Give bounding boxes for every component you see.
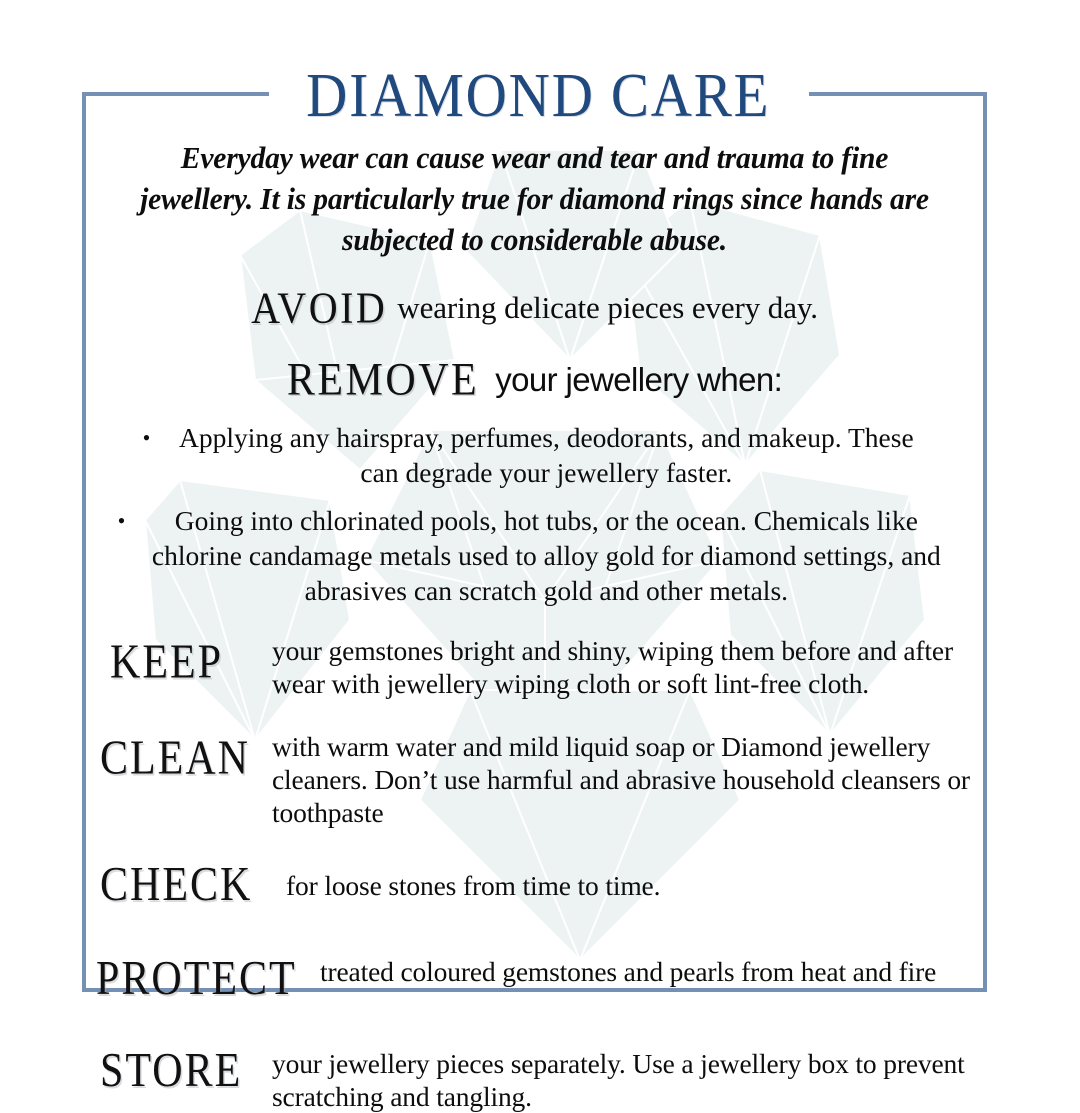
list-item: • Going into chlorinated pools, hot tubs…: [86, 503, 983, 608]
tip-store: STORE your jewellery pieces separately. …: [86, 1043, 983, 1113]
remove-bullet-list: • Applying any hairspray, perfumes, deod…: [86, 420, 983, 608]
check-description: for loose stones from time to time.: [286, 857, 983, 902]
lead-line-avoid: AVOIDwearing delicate pieces every day.: [86, 284, 983, 331]
lead-line-remove: REMOVEyour jewellery when:: [86, 356, 983, 404]
keyword-store: STORE: [100, 1039, 272, 1099]
tip-protect: PROTECT treated coloured gemstones and p…: [86, 951, 983, 1003]
tip-keep: KEEP your gemstones bright and shiny, wi…: [86, 630, 983, 700]
keep-description: your gemstones bright and shiny, wiping …: [272, 630, 983, 700]
keyword-avoid: AVOID: [251, 281, 387, 334]
tip-check: CHECK for loose stones from time to time…: [86, 857, 983, 909]
remove-description: your jewellery when:: [495, 361, 782, 398]
keyword-remove: REMOVE: [287, 353, 479, 407]
intro-paragraph: Everyday wear can cause wear and tear an…: [99, 130, 969, 261]
avoid-description: wearing delicate pieces every day.: [397, 290, 818, 325]
protect-description: treated coloured gemstones and pearls fr…: [320, 951, 983, 988]
tip-clean: CLEAN with warm water and mild liquid so…: [86, 724, 983, 829]
bullet-text: Applying any hairspray, perfumes, deodor…: [166, 420, 926, 490]
list-item: • Applying any hairspray, perfumes, deod…: [86, 420, 983, 490]
store-description: your jewellery pieces separately. Use a …: [272, 1043, 983, 1113]
keyword-protect: PROTECT: [96, 947, 320, 1007]
keyword-check: CHECK: [100, 853, 286, 913]
keyword-keep: KEEP: [110, 626, 272, 690]
care-content: Everyday wear can cause wear and tear an…: [86, 130, 983, 990]
bullet-text: Going into chlorinated pools, hot tubs, …: [141, 503, 951, 608]
bullet-dot-icon: •: [118, 503, 126, 538]
keyword-clean: CLEAN: [100, 720, 272, 787]
bullet-dot-icon: •: [143, 420, 151, 455]
clean-description: with warm water and mild liquid soap or …: [272, 724, 983, 829]
